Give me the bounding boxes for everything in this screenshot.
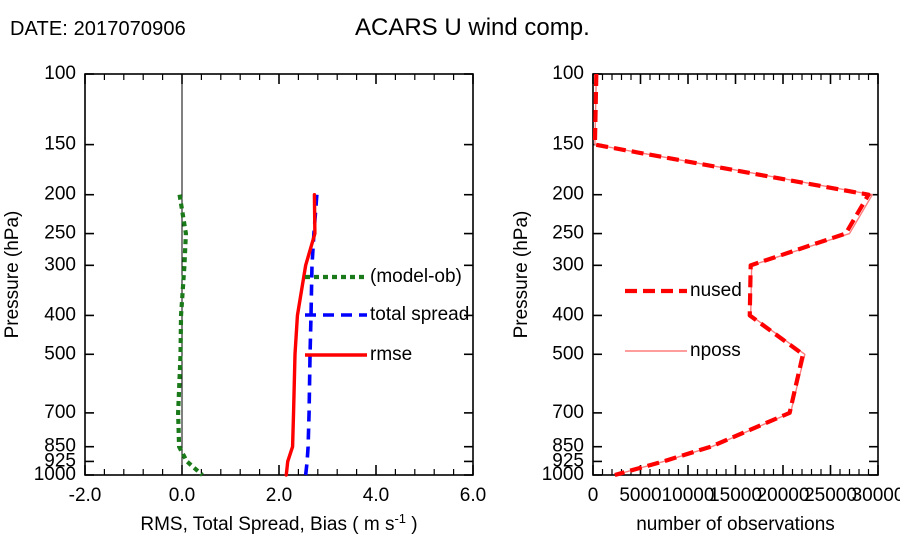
y-tick-label: 1000 (34, 464, 76, 485)
x-tick-label: 30000 (852, 485, 900, 506)
legend-item-nposs-label: nposs (690, 340, 741, 361)
plot-canvas: DATE: 2017070906 ACARS U wind comp. 1001… (0, 0, 900, 560)
x-tick-label: 0 (588, 485, 599, 506)
y-tick-label: 400 (44, 304, 76, 325)
y-tick-label: 100 (552, 63, 584, 84)
x-tick-label: 15000 (709, 485, 762, 506)
series-rmse (286, 195, 315, 475)
y-axis-title: Pressure (hPa) (511, 211, 532, 339)
x-tick-label: -2.0 (69, 485, 102, 506)
series-nposs (595, 74, 872, 475)
x-tick-label: 25000 (804, 485, 857, 506)
y-tick-label: 150 (44, 134, 76, 155)
y-tick-label: 700 (552, 402, 584, 423)
x-axis-title: number of observations (636, 514, 835, 535)
y-tick-label: 200 (552, 184, 584, 205)
y-tick-label: 250 (44, 223, 76, 244)
y-tick-label: 200 (44, 184, 76, 205)
y-tick-label: 400 (552, 304, 584, 325)
y-tick-label: 100 (44, 63, 76, 84)
x-tick-label: 10000 (662, 485, 715, 506)
x-tick-label: 5000 (619, 485, 661, 506)
y-tick-label: 150 (552, 134, 584, 155)
legend-item-total-spread-label: total spread (370, 304, 469, 325)
x-tick-label: 6.0 (460, 485, 486, 506)
y-tick-label: 250 (552, 223, 584, 244)
x-tick-label: 4.0 (363, 485, 389, 506)
x-tick-label: 2.0 (266, 485, 292, 506)
plot-frame-1 (593, 74, 878, 475)
series-nused (595, 74, 869, 475)
y-tick-label: 700 (44, 402, 76, 423)
verification-figure: 1001502002503004005007008509251000-2.00.… (0, 0, 900, 560)
y-tick-label: 1000 (542, 464, 584, 485)
y-tick-label: 500 (552, 343, 584, 364)
y-tick-label: 500 (44, 343, 76, 364)
y-axis-title: Pressure (hPa) (2, 211, 23, 339)
legend-item-nused-label: nused (690, 280, 742, 301)
x-tick-label: 20000 (757, 485, 810, 506)
y-tick-label: 300 (44, 254, 76, 275)
legend-item-rmse-label: rmse (370, 344, 412, 365)
x-tick-label: 0.0 (169, 485, 195, 506)
legend-item-bias-label: (model-ob) (370, 266, 462, 287)
x-axis-title: RMS, Total Spread, Bias ( m s-1 ) (140, 511, 417, 536)
y-tick-label: 300 (552, 254, 584, 275)
